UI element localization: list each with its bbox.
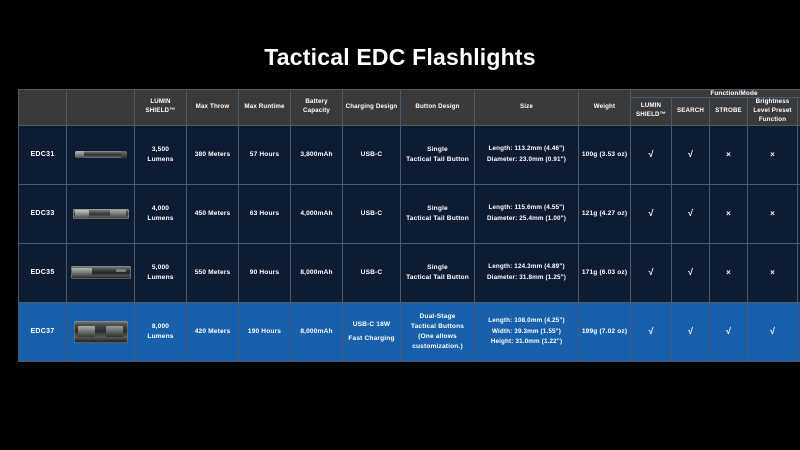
- row-button-design: Dual-Stage Tactical Buttons (One allows …: [401, 302, 475, 361]
- lumin-value: 8,000: [135, 322, 186, 332]
- row-function-strobe: ×: [710, 243, 748, 302]
- button-line: Single: [401, 263, 474, 273]
- header-group-row: LUMIN SHIELD™ Max Throw Max Runtime Batt…: [19, 90, 800, 98]
- row-model-name: EDC31: [19, 125, 67, 184]
- button-line: (One allows: [401, 332, 474, 342]
- header-function-brightness-preset: Brightness Level Preset Function: [748, 98, 798, 126]
- row-weight: 199g (7.02 oz): [579, 302, 631, 361]
- row-function-search: √: [672, 184, 710, 243]
- charging-line: USB-C: [343, 268, 400, 278]
- header-button-design: Button Design: [401, 90, 475, 126]
- row-lumin-shield: 5,000 Lumens: [135, 243, 187, 302]
- row-weight: 100g (3.53 oz): [579, 125, 631, 184]
- lumin-value: 5,000: [135, 263, 186, 273]
- size-line: Length: 115.6mm (4.55"): [475, 203, 578, 214]
- header-max-runtime: Max Runtime: [239, 90, 291, 126]
- charging-line: USB-C 18W: [343, 320, 400, 330]
- header-size: Size: [475, 90, 579, 126]
- row-function-search: √: [672, 125, 710, 184]
- row-function-search: √: [672, 243, 710, 302]
- header-function-mode: Function/Mode: [631, 90, 800, 98]
- row-button-design: Single Tactical Tail Button: [401, 243, 475, 302]
- row-max-runtime: 63 Hours: [239, 184, 291, 243]
- size-line: Diameter: 23.0mm (0.91"): [475, 155, 578, 166]
- row-model-name: EDC35: [19, 243, 67, 302]
- size-line: Length: 124.3mm (4.89"): [475, 262, 578, 273]
- row-function-search: √: [672, 302, 710, 361]
- row-lumin-shield: 3,500 Lumens: [135, 125, 187, 184]
- row-charging-design: USB-C: [343, 243, 401, 302]
- size-line: Diameter: 25.4mm (1.00"): [475, 214, 578, 225]
- row-function-strobe: ×: [710, 125, 748, 184]
- flashlight-edc37-thumbnail: [74, 321, 128, 343]
- flashlight-edc33-thumbnail: [73, 209, 129, 219]
- row-battery-capacity: 4,000mAh: [291, 184, 343, 243]
- row-function-lumin-shield: √: [631, 302, 672, 361]
- row-function-brightness-preset: ×: [748, 184, 798, 243]
- size-line: Length: 108.0mm (4.25"): [475, 316, 578, 327]
- header-function-lumin-shield: LUMIN SHIELD™: [631, 98, 672, 126]
- button-line: Single: [401, 145, 474, 155]
- row-weight: 171g (6.03 oz): [579, 243, 631, 302]
- lumin-unit: Lumens: [135, 214, 186, 224]
- charging-line: USB-C: [343, 209, 400, 219]
- button-line: customization.): [401, 342, 474, 352]
- header-max-throw: Max Throw: [187, 90, 239, 126]
- row-charging-design: USB-C 18W Fast Charging: [343, 302, 401, 361]
- row-product-image: [67, 243, 135, 302]
- header-battery-capacity: Battery Capacity: [291, 90, 343, 126]
- lumin-unit: Lumens: [135, 155, 186, 165]
- row-button-design: Single Tactical Tail Button: [401, 184, 475, 243]
- row-function-strobe: ×: [710, 184, 748, 243]
- row-max-throw: 420 Meters: [187, 302, 239, 361]
- flashlight-edc31-thumbnail: [75, 151, 127, 158]
- row-model-name: EDC33: [19, 184, 67, 243]
- lumin-unit: Lumens: [135, 332, 186, 342]
- row-max-throw: 550 Meters: [187, 243, 239, 302]
- row-lumin-shield: 4,000 Lumens: [135, 184, 187, 243]
- charging-line: Fast Charging: [343, 334, 400, 344]
- size-line: Width: 39.3mm (1.55"): [475, 327, 578, 338]
- row-battery-capacity: 8,000mAh: [291, 243, 343, 302]
- header-function-strobe: STROBE: [710, 98, 748, 126]
- lumin-unit: Lumens: [135, 273, 186, 283]
- table-row[interactable]: EDC35 5,000 Lumens 550 Meters 90 Hours 8…: [19, 243, 800, 302]
- row-battery-capacity: 8,000mAh: [291, 302, 343, 361]
- flashlight-edc35-thumbnail: [71, 266, 131, 279]
- specs-comparison-table: LUMIN SHIELD™ Max Throw Max Runtime Batt…: [18, 89, 800, 362]
- size-line: Height: 31.0mm (1.22"): [475, 337, 578, 348]
- page-root: Tactical EDC Flashlights LUMIN SHIELD™ M…: [0, 0, 800, 450]
- table-header: LUMIN SHIELD™ Max Throw Max Runtime Batt…: [19, 90, 800, 126]
- header-charging-design: Charging Design: [343, 90, 401, 126]
- row-battery-capacity: 3,800mAh: [291, 125, 343, 184]
- charging-line: USB-C: [343, 150, 400, 160]
- row-weight: 121g (4.27 oz): [579, 184, 631, 243]
- row-function-strobe: √: [710, 302, 748, 361]
- table-row-highlighted[interactable]: EDC37 8,000 Lumens 420 Meters 190 Hours …: [19, 302, 800, 361]
- button-line: Tactical Tail Button: [401, 273, 474, 283]
- button-line: Single: [401, 204, 474, 214]
- header-lumin-shield: LUMIN SHIELD™: [135, 90, 187, 126]
- button-line: Dual-Stage: [401, 312, 474, 322]
- row-charging-design: USB-C: [343, 125, 401, 184]
- row-function-brightness-preset: ×: [748, 125, 798, 184]
- row-product-image: [67, 125, 135, 184]
- row-max-throw: 450 Meters: [187, 184, 239, 243]
- row-function-lumin-shield: √: [631, 243, 672, 302]
- row-size: Length: 108.0mm (4.25") Width: 39.3mm (1…: [475, 302, 579, 361]
- row-function-lumin-shield: √: [631, 184, 672, 243]
- row-size: Length: 124.3mm (4.89") Diameter: 31.8mm…: [475, 243, 579, 302]
- row-button-design: Single Tactical Tail Button: [401, 125, 475, 184]
- button-line: Tactical Tail Button: [401, 214, 474, 224]
- row-max-runtime: 190 Hours: [239, 302, 291, 361]
- row-function-brightness-preset: ×: [748, 243, 798, 302]
- header-model-blank: [19, 90, 67, 126]
- size-line: Diameter: 31.8mm (1.25"): [475, 273, 578, 284]
- row-product-image: [67, 184, 135, 243]
- row-function-lumin-shield: √: [631, 125, 672, 184]
- lumin-value: 3,500: [135, 145, 186, 155]
- row-max-runtime: 90 Hours: [239, 243, 291, 302]
- row-size: Length: 115.6mm (4.55") Diameter: 25.4mm…: [475, 184, 579, 243]
- page-title: Tactical EDC Flashlights: [0, 44, 800, 71]
- header-weight: Weight: [579, 90, 631, 126]
- row-lumin-shield: 8,000 Lumens: [135, 302, 187, 361]
- button-line: Tactical Buttons: [401, 322, 474, 332]
- table-body: EDC31 3,500 Lumens 380 Meters 57 Hours 3…: [19, 125, 800, 361]
- row-max-runtime: 57 Hours: [239, 125, 291, 184]
- header-image-blank: [67, 90, 135, 126]
- row-max-throw: 380 Meters: [187, 125, 239, 184]
- table-row[interactable]: EDC33 4,000 Lumens 450 Meters 63 Hours 4…: [19, 184, 800, 243]
- row-model-name: EDC37: [19, 302, 67, 361]
- row-size: Length: 113.2mm (4.46") Diameter: 23.0mm…: [475, 125, 579, 184]
- table-row[interactable]: EDC31 3,500 Lumens 380 Meters 57 Hours 3…: [19, 125, 800, 184]
- row-product-image: [67, 302, 135, 361]
- header-function-search: SEARCH: [672, 98, 710, 126]
- button-line: Tactical Tail Button: [401, 155, 474, 165]
- lumin-value: 4,000: [135, 204, 186, 214]
- row-charging-design: USB-C: [343, 184, 401, 243]
- size-line: Length: 113.2mm (4.46"): [475, 144, 578, 155]
- row-function-brightness-preset: √: [748, 302, 798, 361]
